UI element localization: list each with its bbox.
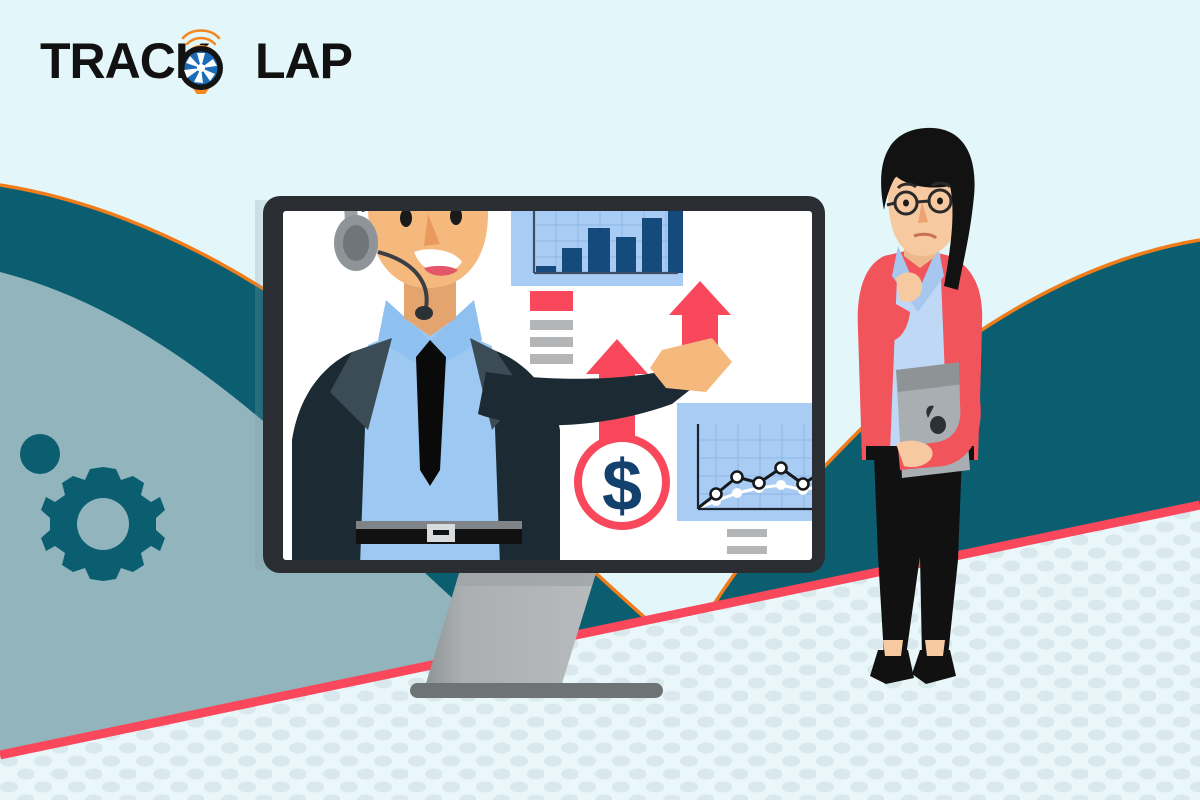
illustration-canvas: $ bbox=[0, 0, 1200, 800]
placeholder-bar bbox=[530, 320, 573, 330]
woman-eye bbox=[937, 198, 943, 205]
monitor-stand-base bbox=[410, 683, 663, 698]
headset-icon-mic bbox=[415, 306, 433, 320]
woman-ankle bbox=[925, 640, 945, 656]
woman-ankle bbox=[883, 640, 903, 656]
placeholder-bar bbox=[530, 354, 573, 364]
placeholder-bar bbox=[727, 529, 767, 537]
dollar-sign-icon: $ bbox=[578, 438, 666, 526]
agent-eye bbox=[400, 209, 412, 227]
circle-dot-icon bbox=[20, 434, 60, 474]
placeholder-bar-highlight bbox=[530, 291, 573, 311]
placeholder-bar bbox=[530, 337, 573, 347]
woman-eye bbox=[903, 200, 909, 207]
svg-text:$: $ bbox=[602, 446, 642, 526]
wheel-hub bbox=[197, 64, 205, 72]
placeholder-bar bbox=[727, 546, 767, 554]
brand-logo-mark bbox=[40, 18, 320, 94]
scene-svg: $ bbox=[0, 0, 1200, 800]
brand-logo[interactable]: TRACKLAP bbox=[40, 18, 320, 94]
